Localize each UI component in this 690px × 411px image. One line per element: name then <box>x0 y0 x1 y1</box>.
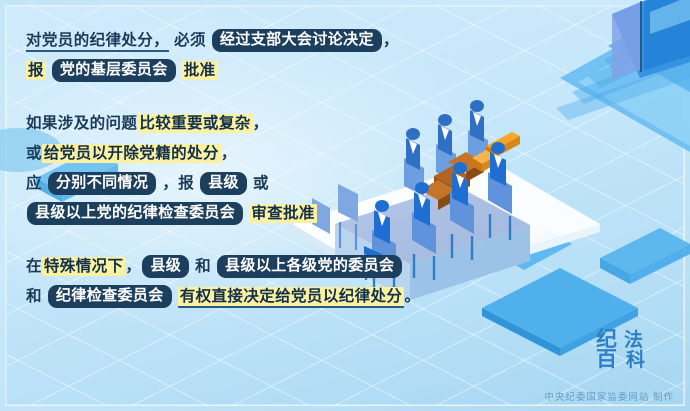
keyword-pill: 经过支部大会讨论决定 <box>212 29 382 52</box>
keyword-pill: 纪律检查委员会 <box>48 285 172 308</box>
keyword-pill: 县级 <box>200 172 247 195</box>
infographic-canvas: 对党员的纪律处分，必须经过支部大会讨论决定， 报党的基层委员会批准 如果涉及的问… <box>0 0 690 411</box>
text-run: ，报 <box>162 175 194 192</box>
text-run: 和 <box>26 288 42 305</box>
text-run: 应 <box>26 175 42 192</box>
keyword-pill: 县级以上各级党的委员会 <box>217 255 402 278</box>
keyword-pill: 县级 <box>142 255 189 278</box>
text-run: 。 <box>404 288 420 305</box>
text-line: 报党的基层委员会批准 <box>26 56 456 86</box>
text-run: 如果涉及的问题 <box>26 115 137 132</box>
highlight-underline-run: 有权直接决定给党员以纪律处分 <box>178 287 405 308</box>
highlight-run: 报 <box>26 61 46 80</box>
text-line: 对党员的纪律处分，必须经过支部大会讨论决定， <box>26 26 456 56</box>
text-run: ， <box>125 258 141 275</box>
text-run-underline: 对党员的纪律处分， <box>26 32 169 52</box>
site-logo: 纪 法 百 科 <box>594 323 668 369</box>
text-run: 和 <box>195 258 211 275</box>
text-run: 必须 <box>174 32 206 49</box>
text-run: 在 <box>26 258 42 275</box>
paragraph-spacer <box>26 235 456 252</box>
logo-char-bai: 百 <box>596 343 617 373</box>
text-line: 应分别不同情况，报县级或 <box>26 169 456 199</box>
text-line: 和纪律检查委员会有权直接决定给党员以纪律处分。 <box>26 282 456 312</box>
text-run: 或 <box>253 175 269 192</box>
paragraph-1: 对党员的纪律处分，必须经过支部大会讨论决定， 报党的基层委员会批准 <box>26 26 456 86</box>
text-line: 或给党员以开除党籍的处分， <box>26 139 456 169</box>
paragraph-2: 如果涉及的问题比较重要或复杂， 或给党员以开除党籍的处分， 应分别不同情况，报县… <box>26 109 456 229</box>
highlight-run: 批准 <box>182 61 218 80</box>
highlight-run: 特殊情况下 <box>42 257 126 276</box>
paragraph-3: 在特殊情况下，县级和县级以上各级党的委员会 和纪律检查委员会有权直接决定给党员以… <box>26 252 456 312</box>
text-run: ， <box>253 115 269 132</box>
text-run: 或 <box>26 145 42 162</box>
logo-char-ke: 科 <box>626 345 645 372</box>
keyword-pill: 县级以上党的纪律检查委员会 <box>27 202 243 225</box>
highlight-run: 比较重要或复杂 <box>137 114 252 133</box>
text-line: 在特殊情况下，县级和县级以上各级党的委员会 <box>26 252 456 282</box>
highlight-run: 给党员以开除党籍的处分 <box>42 144 221 163</box>
text-line: 县级以上党的纪律检查委员会审查批准 <box>26 199 456 229</box>
keyword-pill: 党的基层委员会 <box>52 59 176 82</box>
text-line: 如果涉及的问题比较重要或复杂， <box>26 109 456 139</box>
footer-credit: 中央纪委国家监委网站 制作 <box>544 389 674 403</box>
highlight-run: 审查批准 <box>249 204 317 223</box>
statute-text-block: 对党员的纪律处分，必须经过支部大会讨论决定， 报党的基层委员会批准 如果涉及的问… <box>26 26 456 318</box>
paragraph-spacer <box>26 92 456 109</box>
text-run: ， <box>221 145 237 162</box>
text-run: ， <box>383 32 399 49</box>
keyword-pill: 分别不同情况 <box>48 172 156 195</box>
